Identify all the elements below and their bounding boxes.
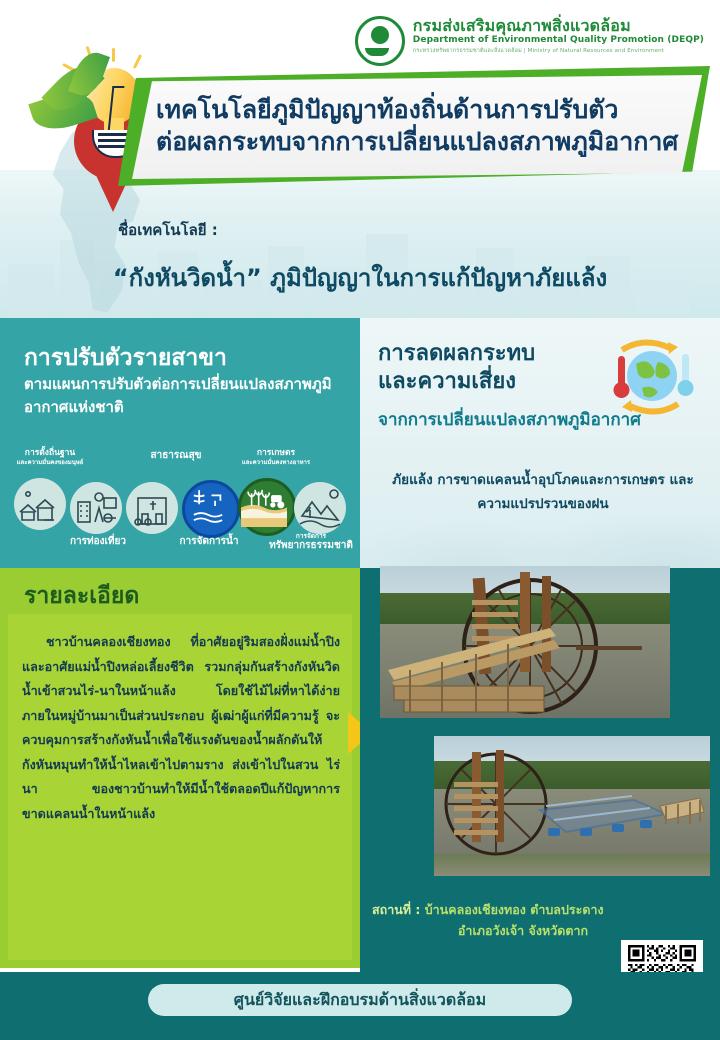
public-health-icon: [126, 482, 178, 534]
water-wheel-photo-2: [434, 736, 710, 876]
adaptation-heading: การปรับตัวรายสาขา: [24, 340, 227, 376]
poster-title-line2: ต่อผลกระทบจากการเปลี่ยนแปลงสภาพภูมิอากาศ: [156, 122, 678, 162]
title-banner: เทคโนโลยีภูมิปัญญาท้องถิ่นด้านการปรับตัว…: [118, 66, 710, 186]
footer-pill: ศูนย์วิจัยและฝึกอบรมด้านสิ่งแวดล้อม: [148, 984, 572, 1016]
agriculture-icon: [238, 478, 296, 536]
sector-icon-row: การตั้งถิ่นฐาน และความมั่นคงของมนุษย์ สา…: [0, 448, 360, 568]
poster-header: กรมส่งเสริมคุณภาพสิ่งแวดล้อม Department …: [0, 0, 720, 318]
sector-label-tourism: การท่องเที่ยว: [56, 536, 140, 549]
location-line2: อำเภอวังเจ้า จังหวัดตาก: [372, 921, 652, 942]
location-line1: บ้านคลองเชียงทอง ตำบลประดาง: [425, 902, 604, 917]
location-label: สถานที่ :: [372, 902, 420, 917]
org-name-en: Department of Environmental Quality Prom…: [413, 36, 704, 46]
sector-label-water-management: การจัดการน้ำ: [166, 536, 252, 549]
risk-heading: การลดผลกระทบ และความเสี่ยง: [378, 340, 535, 395]
deqp-seal-icon: [355, 16, 405, 66]
water-management-icon: [182, 480, 240, 538]
infographic-poster: กรมส่งเสริมคุณภาพสิ่งแวดล้อม Department …: [0, 0, 720, 1040]
location-text: สถานที่ : บ้านคลองเชียงทอง ตำบลประดาง อำ…: [372, 900, 652, 941]
sector-label-public-health: สาธารณสุข: [140, 450, 212, 463]
tourism-icon: [70, 482, 122, 534]
technology-label: ชื่อเทคโนโลยี :: [118, 218, 218, 242]
details-heading: รายละเอียด: [24, 578, 139, 614]
water-wheel-photo-1: [380, 566, 670, 718]
footer-text: ศูนย์วิจัยและฝึกอบรมด้านสิ่งแวดล้อม: [234, 988, 486, 1013]
org-name-th: กรมส่งเสริมคุณภาพสิ่งแวดล้อม: [413, 17, 704, 34]
globe-thermometer-icon: [602, 336, 698, 418]
ministry-line: กระทรวงทรัพยากรธรรมชาติและสิ่งแวดล้อม | …: [413, 48, 704, 54]
natural-resources-icon: [294, 482, 346, 534]
sector-label-agriculture: การเกษตร และความมั่นคงทางอาหาร: [228, 448, 324, 466]
sector-label-natural-resources: การจัดการ ทรัพยากรธรรมชาติ: [262, 532, 360, 553]
technology-name: “กังหันวิดน้ำ” ภูมิปัญญาในการแก้ปัญหาภัย…: [0, 258, 720, 297]
deqp-logo: กรมส่งเสริมคุณภาพสิ่งแวดล้อม Department …: [355, 16, 704, 66]
settlement-icon: [14, 478, 66, 530]
details-panel: รายละเอียด ชาวบ้านคลองเชียงทอง ที่อาศัยอ…: [0, 568, 360, 968]
details-body: ชาวบ้านคลองเชียงทอง ที่อาศัยอยู่ริมสองฝั…: [22, 630, 340, 826]
sector-label-settlement: การตั้งถิ่นฐาน และความมั่นคงของมนุษย์: [4, 448, 96, 466]
risk-reduction-panel: การลดผลกระทบ และความเสี่ยง จากการเปลี่ยน…: [360, 318, 720, 568]
risk-body-text: ภัยแล้ง การขาดแคลนน้ำอุปโภคและการเกษตร แ…: [378, 468, 708, 517]
adaptation-subheading: ตามแผนการปรับตัวต่อการเปลี่ยนแปลงสภาพภูม…: [24, 373, 344, 420]
